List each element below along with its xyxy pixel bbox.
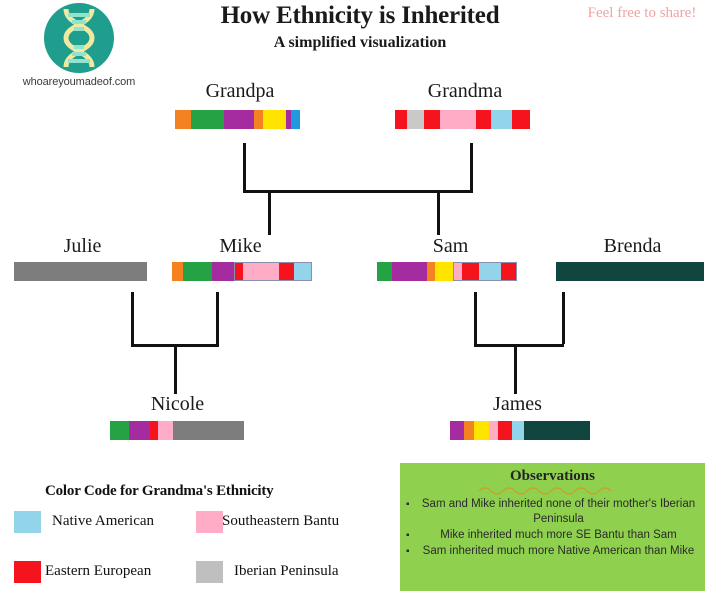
chromosome-segment-unrelated-teal bbox=[556, 262, 704, 281]
connector-couple-bar-3 bbox=[474, 344, 564, 347]
chromosome-segment-eastern-european bbox=[279, 263, 294, 280]
chromosome-bar-grandpa bbox=[175, 110, 300, 129]
chromosome-segment-unlabeled-orange bbox=[175, 110, 191, 129]
chromosome-segment-unlabeled-purple bbox=[392, 262, 427, 281]
connector-down-to-nicole bbox=[174, 344, 177, 394]
chromosome-segment-unlabeled-orange bbox=[172, 262, 183, 281]
observation-item: Sam and Mike inherited none of their mot… bbox=[418, 497, 699, 527]
chromosome-segment-native-american bbox=[512, 421, 525, 440]
person-label-grandpa: Grandpa bbox=[165, 80, 315, 103]
chromosome-segment-unlabeled-orange bbox=[254, 110, 263, 129]
chromosome-segment-eastern-european bbox=[476, 110, 491, 129]
person-label-mike: Mike bbox=[168, 235, 313, 258]
chromosome-segment-native-american bbox=[294, 263, 311, 280]
chromosome-segment-unrelated-teal bbox=[524, 421, 590, 440]
share-note: Feel free to share! bbox=[572, 3, 712, 23]
chromosome-segment-unlabeled-purple bbox=[450, 421, 464, 440]
connector-brenda-down bbox=[562, 292, 565, 344]
chromosome-segment-unlabeled-yellow bbox=[435, 262, 453, 281]
person-label-nicole: Nicole bbox=[105, 393, 250, 416]
chromosome-segment-eastern-european bbox=[235, 263, 243, 280]
squiggle-underline-icon bbox=[478, 486, 628, 495]
chromosome-segment-eastern-european bbox=[395, 110, 407, 129]
chromosome-segment-unlabeled-blue bbox=[291, 110, 300, 129]
chromosome-segment-unlabeled-orange bbox=[464, 421, 474, 440]
chromosome-segment-unlabeled-green bbox=[191, 110, 224, 129]
chromosome-segment-southeastern-bantu bbox=[243, 263, 279, 280]
chromosome-segment-eastern-european bbox=[462, 263, 479, 280]
chromosome-segment-eastern-european bbox=[150, 421, 158, 440]
observation-item: Sam inherited much more Native American … bbox=[418, 544, 699, 559]
chromosome-bar-brenda bbox=[556, 262, 704, 281]
chromosome-bar-julie bbox=[14, 262, 147, 281]
chromosome-segment-unlabeled-yellow bbox=[474, 421, 489, 440]
chromosome-bar-james bbox=[450, 421, 590, 440]
observations-title: Observations bbox=[400, 468, 705, 485]
connector-down-to-james bbox=[514, 344, 517, 394]
legend-title: Color Code for Grandma's Ethnicity bbox=[45, 483, 273, 500]
legend-label-native-american: Native American bbox=[52, 513, 154, 530]
chromosome-segment-eastern-european bbox=[501, 263, 516, 280]
chromosome-bar-grandma bbox=[395, 110, 530, 129]
chromosome-segment-unlabeled-purple bbox=[129, 421, 150, 440]
person-label-grandma: Grandma bbox=[390, 80, 540, 103]
legend-label-southeastern-bantu: Southeastern Bantu bbox=[222, 513, 339, 530]
chromosome-segment-southeastern-bantu bbox=[489, 421, 497, 440]
chromosome-segment-eastern-european bbox=[498, 421, 512, 440]
connector-down-to-sam bbox=[437, 190, 440, 235]
chromosome-segment-iberian-peninsula bbox=[407, 110, 424, 129]
chromosome-segment-unlabeled-green bbox=[377, 262, 392, 281]
legend-swatch-southeastern-bantu bbox=[196, 511, 223, 533]
logo-url-text: whoareyoumadeof.com bbox=[14, 76, 144, 88]
page-subtitle: A simplified visualization bbox=[0, 34, 720, 52]
person-label-james: James bbox=[445, 393, 590, 416]
maternal-inheritance-outline bbox=[234, 262, 312, 281]
person-label-brenda: Brenda bbox=[560, 235, 705, 258]
legend-label-iberian-peninsula: Iberian Peninsula bbox=[234, 563, 339, 580]
chromosome-segment-southeastern-bantu bbox=[440, 110, 476, 129]
person-label-sam: Sam bbox=[378, 235, 523, 258]
legend-swatch-native-american bbox=[14, 511, 41, 533]
chromosome-segment-southeastern-bantu bbox=[454, 263, 462, 280]
connector-down-to-mike bbox=[268, 190, 271, 235]
chromosome-segment-unlabeled-purple bbox=[212, 262, 234, 281]
chromosome-segment-southeastern-bantu bbox=[158, 421, 173, 440]
chromosome-segment-native-american bbox=[491, 110, 512, 129]
chromosome-segment-unrelated-grey bbox=[173, 421, 244, 440]
chromosome-bar-mike bbox=[172, 262, 312, 281]
chromosome-segment-unlabeled-green bbox=[183, 262, 212, 281]
connector-grandpa-down bbox=[243, 143, 246, 191]
observations-panel: Observations Sam and Mike inherited none… bbox=[400, 463, 705, 591]
infographic-canvas: whoareyoumadeof.com How Ethnicity is Inh… bbox=[0, 0, 720, 603]
chromosome-segment-native-american bbox=[479, 263, 501, 280]
legend-swatch-eastern-european bbox=[14, 561, 41, 583]
observations-list: Sam and Mike inherited none of their mot… bbox=[400, 497, 705, 559]
maternal-inheritance-outline bbox=[453, 262, 517, 281]
legend-swatch-iberian-peninsula bbox=[196, 561, 223, 583]
person-label-julie: Julie bbox=[10, 235, 155, 258]
chromosome-segment-unlabeled-orange bbox=[427, 262, 435, 281]
chromosome-segment-eastern-european bbox=[424, 110, 440, 129]
chromosome-segment-unrelated-grey bbox=[14, 262, 147, 281]
chromosome-bar-sam bbox=[377, 262, 517, 281]
connector-sam-down bbox=[474, 292, 477, 344]
chromosome-segment-unlabeled-purple bbox=[224, 110, 254, 129]
chromosome-bar-nicole bbox=[110, 421, 244, 440]
chromosome-segment-unlabeled-green bbox=[110, 421, 129, 440]
connector-mike-down bbox=[216, 292, 219, 344]
legend-label-eastern-european: Eastern European bbox=[45, 563, 151, 580]
connector-julie-down bbox=[131, 292, 134, 344]
chromosome-segment-unlabeled-yellow bbox=[263, 110, 287, 129]
connector-grandma-down bbox=[470, 143, 473, 191]
observation-item: Mike inherited much more SE Bantu than S… bbox=[418, 528, 699, 543]
chromosome-segment-eastern-european bbox=[512, 110, 530, 129]
